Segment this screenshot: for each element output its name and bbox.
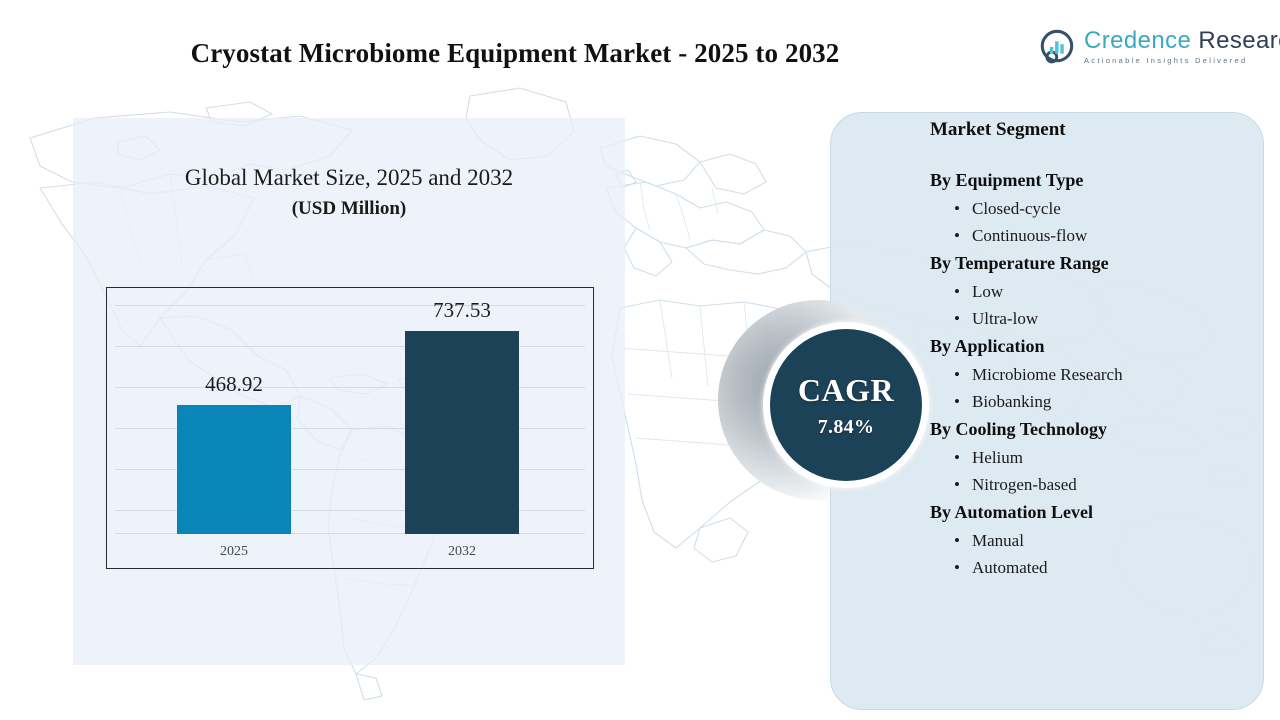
- bullet-icon: •: [954, 554, 960, 582]
- chart-subtitle: (USD Million): [103, 198, 595, 220]
- segment-group-title: By Cooling Technology: [930, 416, 1260, 444]
- list-item[interactable]: •Helium: [972, 444, 1260, 472]
- bullet-icon: •: [954, 527, 960, 555]
- page-title: Cryostat Microbiome Equipment Market - 2…: [0, 38, 1030, 69]
- segment-group-items: •Low •Ultra-low: [930, 278, 1260, 333]
- bar-value-2032: 737.53: [382, 298, 542, 323]
- bar-2032[interactable]: [405, 331, 519, 534]
- segment-item-label: Ultra-low: [972, 309, 1038, 328]
- list-item[interactable]: •Nitrogen-based: [972, 471, 1260, 499]
- segment-item-label: Helium: [972, 448, 1023, 467]
- segment-group-items: •Helium •Nitrogen-based: [930, 444, 1260, 499]
- segment-item-label: Biobanking: [972, 392, 1051, 411]
- chart-plot-area: 468.92 2025 737.53 2032: [107, 288, 593, 568]
- list-item[interactable]: •Manual: [972, 527, 1260, 555]
- bar-value-2025: 468.92: [154, 372, 314, 397]
- segment-group-automation-level: By Automation Level •Manual •Automated: [930, 499, 1260, 582]
- bullet-icon: •: [954, 444, 960, 472]
- segment-group-title: By Automation Level: [930, 499, 1260, 527]
- list-item[interactable]: •Closed-cycle: [972, 195, 1260, 223]
- segment-group-title: By Application: [930, 333, 1260, 361]
- chart-title: Global Market Size, 2025 and 2032: [103, 165, 595, 191]
- segment-group-items: •Manual •Automated: [930, 527, 1260, 582]
- list-item[interactable]: •Ultra-low: [972, 305, 1260, 333]
- bullet-icon: •: [954, 471, 960, 499]
- bullet-icon: •: [954, 361, 960, 389]
- segment-group-items: •Closed-cycle •Continuous-flow: [930, 195, 1260, 250]
- bullet-icon: •: [954, 222, 960, 250]
- segment-item-label: Low: [972, 282, 1003, 301]
- bar-chart-circle-icon: [1038, 28, 1076, 66]
- list-item[interactable]: •Biobanking: [972, 388, 1260, 416]
- x-axis-label-2025: 2025: [177, 544, 291, 560]
- logo-wordmark: Credence Research: [1084, 29, 1280, 53]
- bullet-icon: •: [954, 195, 960, 223]
- bar-2025[interactable]: [177, 405, 291, 534]
- segment-group-equipment-type: By Equipment Type •Closed-cycle •Continu…: [930, 167, 1260, 250]
- segment-panel-heading: Market Segment: [930, 120, 1260, 141]
- bar-chart: 468.92 2025 737.53 2032: [106, 287, 594, 569]
- brand-logo[interactable]: Credence Research Actionable Insights De…: [1038, 28, 1280, 66]
- logo-name-credence: Credence: [1084, 27, 1191, 54]
- segment-item-label: Continuous-flow: [972, 226, 1087, 245]
- segment-group-title: By Equipment Type: [930, 167, 1260, 195]
- cagr-value: 7.84%: [818, 417, 875, 437]
- segment-item-label: Closed-cycle: [972, 199, 1061, 218]
- cagr-label: CAGR: [798, 374, 894, 406]
- segment-item-label: Microbiome Research: [972, 365, 1123, 384]
- bullet-icon: •: [954, 305, 960, 333]
- segment-item-label: Manual: [972, 531, 1024, 550]
- list-item[interactable]: •Microbiome Research: [972, 361, 1260, 389]
- list-item[interactable]: •Low: [972, 278, 1260, 306]
- list-item[interactable]: •Automated: [972, 554, 1260, 582]
- segment-group-title: By Temperature Range: [930, 250, 1260, 278]
- segment-group-cooling-technology: By Cooling Technology •Helium •Nitrogen-…: [930, 416, 1260, 499]
- bullet-icon: •: [954, 388, 960, 416]
- segment-group-application: By Application •Microbiome Research •Bio…: [930, 333, 1260, 416]
- segment-group-items: •Microbiome Research •Biobanking: [930, 361, 1260, 416]
- x-axis-label-2032: 2032: [405, 544, 519, 560]
- logo-name-research: Research: [1198, 27, 1280, 54]
- cagr-badge: CAGR 7.84%: [770, 329, 922, 481]
- segment-group-temperature-range: By Temperature Range •Low •Ultra-low: [930, 250, 1260, 333]
- list-item[interactable]: •Continuous-flow: [972, 222, 1260, 250]
- infographic-canvas: Cryostat Microbiome Equipment Market - 2…: [0, 0, 1280, 720]
- market-segment-list: Market Segment By Equipment Type •Closed…: [930, 120, 1260, 582]
- segment-item-label: Automated: [972, 558, 1048, 577]
- segment-item-label: Nitrogen-based: [972, 475, 1077, 494]
- bullet-icon: •: [954, 278, 960, 306]
- logo-tagline: Actionable Insights Delivered: [1084, 57, 1280, 65]
